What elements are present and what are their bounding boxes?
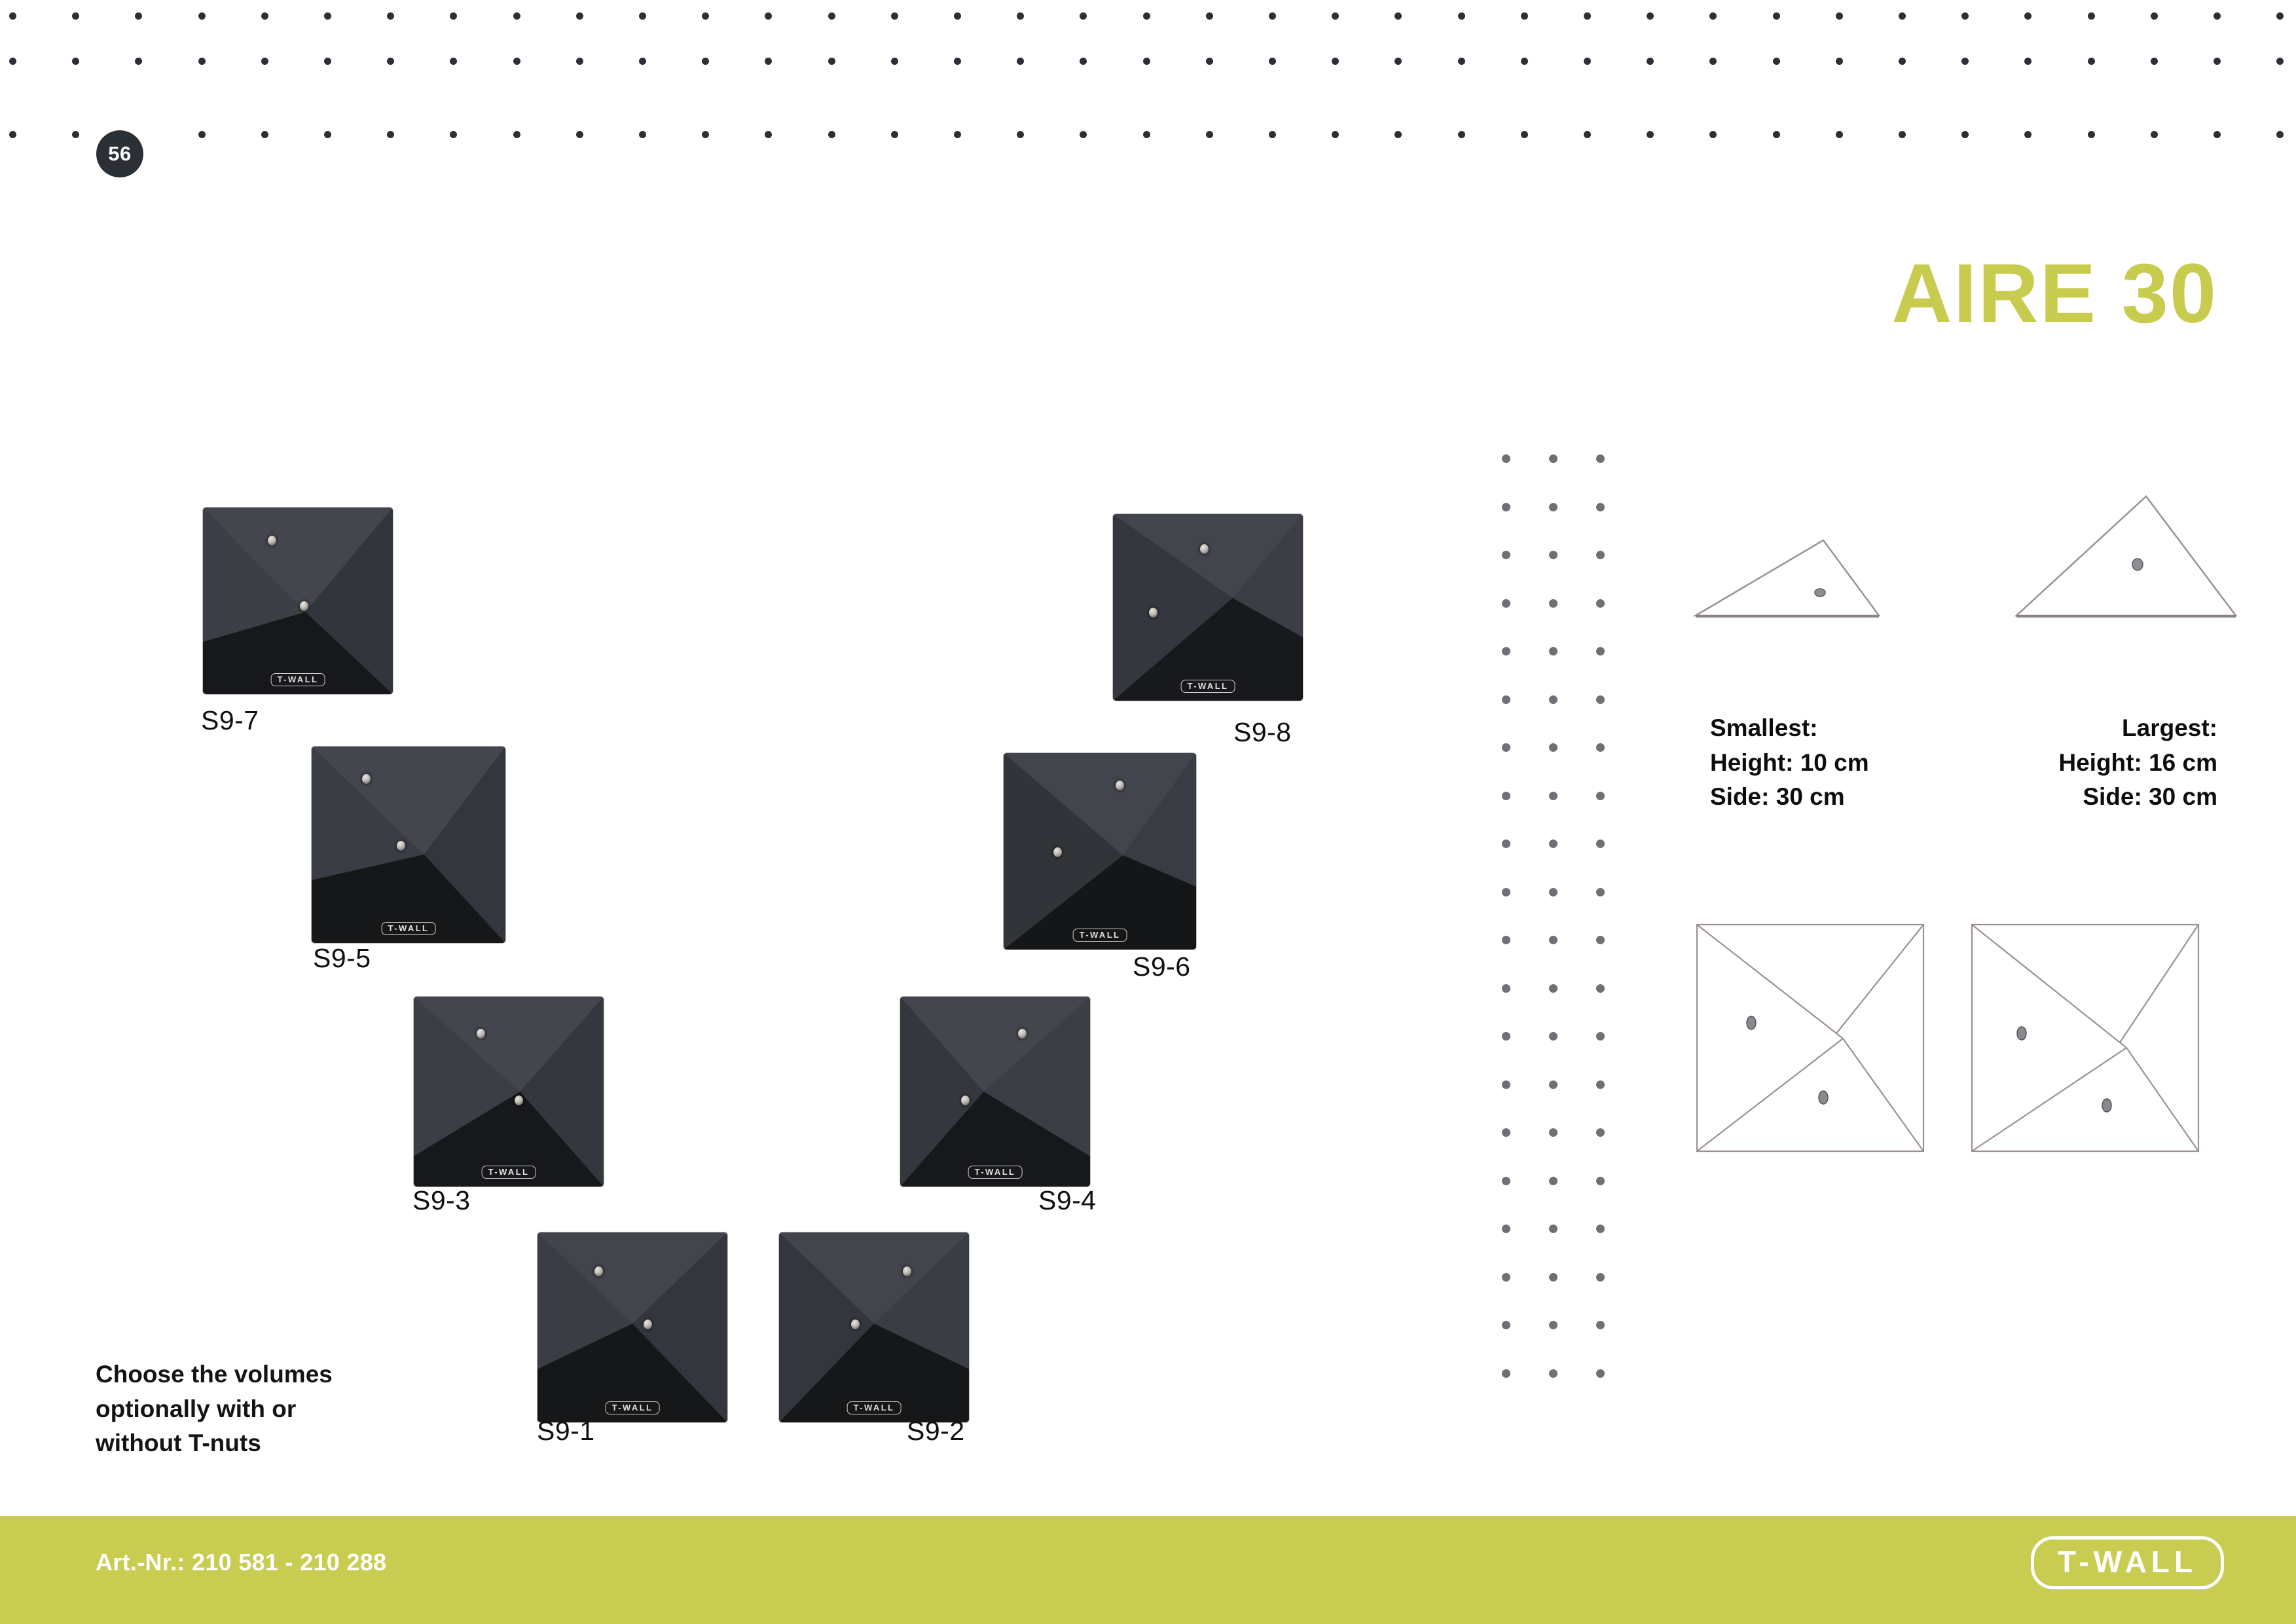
decorative-dot [2276, 12, 2284, 20]
bolt-hole-lower [1149, 608, 1157, 618]
decorative-dot [450, 58, 457, 65]
decorative-dot [1647, 12, 1654, 20]
decorative-dot [1596, 888, 1605, 896]
product-label-s9-2: S9-2 [907, 1416, 965, 1447]
decorative-dot [9, 12, 16, 20]
decorative-dot [261, 58, 268, 65]
decorative-dot [513, 58, 520, 65]
facet-shading [203, 507, 393, 694]
decorative-dot [9, 131, 16, 138]
decorative-dot [954, 58, 961, 65]
decorative-dot [1596, 840, 1605, 848]
decorative-dot [1502, 695, 1510, 704]
decorative-dot [1596, 1273, 1605, 1282]
decorative-dot [1961, 131, 1969, 138]
decorative-dot [1709, 131, 1717, 138]
decorative-dot [1502, 454, 1510, 463]
decorative-dot [1549, 1177, 1558, 1185]
decorative-dot [1549, 695, 1558, 704]
decorative-dot [1502, 1177, 1510, 1185]
product-label-s9-8: S9-8 [1233, 717, 1292, 748]
decorative-dot [891, 58, 898, 65]
bolt-hole-upper [903, 1266, 911, 1276]
decorative-dot [387, 12, 394, 20]
bolt-hole-lower [961, 1096, 970, 1105]
decorative-dot [1332, 58, 1339, 65]
decorative-dot [2151, 58, 2158, 65]
decorative-dot [2276, 58, 2284, 65]
decorative-dot [1596, 1225, 1605, 1233]
decorative-dot [1502, 1128, 1510, 1137]
decorative-dot [2088, 12, 2095, 20]
decorative-dot [1584, 131, 1591, 138]
decorative-dot [2088, 58, 2095, 65]
decorative-dot [1017, 12, 1024, 20]
twall-brand-logo: T-WALL [2031, 1536, 2224, 1589]
decorative-dot [1206, 58, 1213, 65]
decorative-dot [1596, 1369, 1605, 1378]
decorative-dot [1269, 131, 1276, 138]
product-card-s9-4[interactable]: T-WALL [900, 997, 1090, 1187]
decorative-dot [828, 12, 835, 20]
decorative-dot [1206, 12, 1213, 20]
product-card-s9-2[interactable]: T-WALL [779, 1232, 969, 1422]
decorative-dot [1269, 58, 1276, 65]
decorative-dot [1596, 551, 1605, 559]
decorative-dot [2088, 131, 2095, 138]
decorative-dot [2214, 58, 2221, 65]
product-image-s9-6: T-WALL [1004, 753, 1196, 950]
decorative-dot [702, 131, 709, 138]
product-image-s9-5: T-WALL [312, 747, 505, 943]
decorative-dot [1899, 12, 1906, 20]
decorative-dot [1549, 1032, 1558, 1041]
product-image-s9-1: T-WALL [538, 1232, 727, 1422]
center-dot-grid [1486, 439, 1630, 1375]
volume-note-text: Choose the volumes optionally with or wi… [96, 1357, 333, 1461]
decorative-dot [1549, 1225, 1558, 1233]
decorative-dot [1709, 58, 1717, 65]
decorative-dot [1521, 12, 1528, 20]
decorative-dot [828, 131, 835, 138]
decorative-dot [1458, 58, 1465, 65]
decorative-dot [1584, 12, 1591, 20]
decorative-dot [1143, 12, 1150, 20]
twall-logo-badge: T-WALL [606, 1401, 660, 1414]
bolt-hole-upper [362, 774, 371, 784]
decorative-dot [2024, 12, 2032, 20]
decorative-dot [765, 12, 772, 20]
decorative-dot [639, 12, 646, 20]
decorative-dot [891, 12, 898, 20]
decorative-dot [765, 131, 772, 138]
decorative-dot [1596, 792, 1605, 800]
decorative-dot [135, 12, 142, 20]
decorative-dot [324, 58, 331, 65]
decorative-dot [9, 58, 16, 65]
decorative-dot [1836, 131, 1843, 138]
decorative-dot [1502, 1080, 1510, 1089]
decorative-dot [1836, 58, 1843, 65]
decorative-dot [1332, 12, 1339, 20]
decorative-dot [450, 12, 457, 20]
decorative-dot [576, 12, 583, 20]
decorative-dot [1394, 12, 1402, 20]
decorative-dot [1596, 1128, 1605, 1137]
decorative-dot [1596, 1080, 1605, 1089]
decorative-dot [198, 131, 206, 138]
twall-logo-badge: T-WALL [847, 1401, 902, 1414]
decorative-dot [1269, 12, 1276, 20]
decorative-dot [450, 131, 457, 138]
decorative-dot [1521, 131, 1528, 138]
profile-diagram-largest [2003, 485, 2265, 629]
product-image-s9-3: T-WALL [414, 997, 604, 1187]
decorative-dot [1549, 503, 1558, 511]
decorative-dot [1596, 599, 1605, 608]
product-label-s9-4: S9-4 [1038, 1185, 1097, 1216]
decorative-dot [1836, 12, 1843, 20]
decorative-dot [135, 58, 142, 65]
decorative-dot [1596, 454, 1605, 463]
spec-text-smallest: Smallest: Height: 10 cm Side: 30 cm [1710, 711, 1869, 815]
decorative-dot [1502, 599, 1510, 608]
page-number-badge: 56 [96, 130, 143, 177]
decorative-dot [72, 12, 79, 20]
decorative-dot [1647, 131, 1654, 138]
product-label-s9-7: S9-7 [201, 705, 259, 736]
decorative-dot [576, 131, 583, 138]
decorative-dot [1549, 1080, 1558, 1089]
decorative-dot [1596, 984, 1605, 993]
decorative-dot [1596, 1177, 1605, 1185]
decorative-dot [1773, 12, 1780, 20]
decorative-dot [954, 131, 961, 138]
decorative-dot [261, 131, 268, 138]
decorative-dot [576, 58, 583, 65]
decorative-dot [1502, 1273, 1510, 1282]
top-dot-grid [0, 0, 2296, 164]
decorative-dot [72, 131, 79, 138]
decorative-dot [513, 12, 520, 20]
decorative-dot [1549, 599, 1558, 608]
decorative-dot [1596, 1032, 1605, 1041]
decorative-dot [1596, 936, 1605, 944]
decorative-dot [1899, 131, 1906, 138]
decorative-dot [1549, 454, 1558, 463]
facet-shading [538, 1232, 727, 1422]
decorative-dot [1549, 1128, 1558, 1137]
decorative-dot [1647, 58, 1654, 65]
decorative-dot [2151, 131, 2158, 138]
decorative-dot [1596, 1321, 1605, 1329]
twall-logo-badge: T-WALL [968, 1166, 1023, 1179]
bolt-hole-upper [1018, 1029, 1027, 1039]
profile-diagram-smallest [1689, 511, 1951, 629]
decorative-dot [1549, 792, 1558, 800]
decorative-dot [1521, 58, 1528, 65]
product-card-s9-1[interactable]: T-WALL [538, 1232, 727, 1422]
facet-shading [779, 1232, 969, 1422]
product-label-s9-1: S9-1 [537, 1416, 595, 1447]
decorative-dot [1080, 131, 1087, 138]
decorative-dot [1206, 131, 1213, 138]
decorative-dot [702, 58, 709, 65]
product-image-s9-7: T-WALL [203, 507, 393, 694]
facet-shading [312, 747, 505, 943]
twall-logo-badge: T-WALL [382, 922, 436, 935]
decorative-dot [1502, 936, 1510, 944]
product-card-s9-8[interactable]: T-WALL [1113, 514, 1303, 701]
decorative-dot [2024, 131, 2032, 138]
plan-diagram-smallest [1689, 917, 1931, 1159]
decorative-dot [1773, 131, 1780, 138]
decorative-dot [1017, 131, 1024, 138]
decorative-dot [1502, 888, 1510, 896]
product-image-s9-4: T-WALL [900, 997, 1090, 1187]
decorative-dot [1017, 58, 1024, 65]
decorative-dot [198, 58, 206, 65]
article-number-text: Art.-Nr.: 210 581 - 210 288 [96, 1549, 386, 1576]
decorative-dot [1549, 1321, 1558, 1329]
decorative-dot [72, 58, 79, 65]
product-label-s9-6: S9-6 [1133, 951, 1191, 982]
decorative-dot [1080, 12, 1087, 20]
decorative-dot [387, 131, 394, 138]
bolt-hole-upper [1200, 544, 1209, 554]
product-image-s9-2: T-WALL [779, 1232, 969, 1422]
product-image-s9-8: T-WALL [1113, 514, 1303, 701]
bolt-hole-upper [477, 1029, 485, 1039]
facet-shading [1113, 514, 1303, 701]
page-title: AIRE 30 [1891, 252, 2217, 336]
product-card-s9-5[interactable]: T-WALL [312, 747, 505, 943]
decorative-dot [702, 12, 709, 20]
product-label-s9-5: S9-5 [313, 943, 371, 974]
decorative-dot [1332, 131, 1339, 138]
facet-shading [900, 997, 1090, 1187]
decorative-dot [1549, 840, 1558, 848]
product-card-s9-3[interactable]: T-WALL [414, 997, 604, 1187]
bolt-hole-lower [515, 1096, 523, 1105]
decorative-dot [2151, 12, 2158, 20]
decorative-dot [1549, 984, 1558, 993]
decorative-dot [891, 131, 898, 138]
decorative-dot [1502, 840, 1510, 848]
decorative-dot [639, 58, 646, 65]
decorative-dot [261, 12, 268, 20]
facet-shading [414, 997, 604, 1187]
decorative-dot [2024, 58, 2032, 65]
decorative-dot [1502, 551, 1510, 559]
decorative-dot [1143, 58, 1150, 65]
twall-logo-badge: T-WALL [271, 673, 325, 686]
facet-shading [1004, 753, 1196, 950]
decorative-dot [1458, 12, 1465, 20]
decorative-dot [324, 131, 331, 138]
decorative-dot [2214, 12, 2221, 20]
decorative-dot [1549, 551, 1558, 559]
decorative-dot [1502, 1369, 1510, 1378]
decorative-dot [1502, 1032, 1510, 1041]
decorative-dot [1502, 1321, 1510, 1329]
decorative-dot [1502, 984, 1510, 993]
decorative-dot [1773, 58, 1780, 65]
decorative-dot [1394, 58, 1402, 65]
decorative-dot [198, 12, 206, 20]
product-label-s9-3: S9-3 [412, 1185, 471, 1216]
decorative-dot [387, 58, 394, 65]
decorative-dot [1549, 936, 1558, 944]
decorative-dot [1596, 743, 1605, 752]
bottom-banner: Art.-Nr.: 210 581 - 210 288 T-WALL [0, 1516, 2296, 1624]
decorative-dot [1502, 1225, 1510, 1233]
decorative-dot [2276, 131, 2284, 138]
decorative-dot [1549, 1369, 1558, 1378]
decorative-dot [1502, 743, 1510, 752]
decorative-dot [1502, 647, 1510, 655]
decorative-dot [1961, 58, 1969, 65]
decorative-dot [639, 131, 646, 138]
product-card-s9-6[interactable]: T-WALL [1004, 753, 1196, 950]
decorative-dot [1080, 58, 1087, 65]
decorative-dot [1549, 888, 1558, 896]
decorative-dot [1596, 647, 1605, 655]
decorative-dot [1596, 503, 1605, 511]
decorative-dot [828, 58, 835, 65]
decorative-dot [1458, 131, 1465, 138]
twall-logo-badge: T-WALL [482, 1166, 536, 1179]
decorative-dot [954, 12, 961, 20]
decorative-dot [1502, 503, 1510, 511]
bolt-hole-lower [300, 601, 308, 611]
decorative-dot [765, 58, 772, 65]
spec-text-largest: Largest: Height: 16 cm Side: 30 cm [2058, 711, 2217, 815]
decorative-dot [1549, 1273, 1558, 1282]
page-number-label: 56 [108, 142, 131, 166]
product-card-s9-7[interactable]: T-WALL [203, 507, 393, 694]
decorative-dot [1549, 647, 1558, 655]
decorative-dot [1502, 792, 1510, 800]
decorative-dot [324, 12, 331, 20]
decorative-dot [513, 131, 520, 138]
decorative-dot [1584, 58, 1591, 65]
decorative-dot [1961, 12, 1969, 20]
decorative-dot [1394, 131, 1402, 138]
bolt-hole-upper [268, 536, 276, 545]
decorative-dot [1549, 743, 1558, 752]
decorative-dot [2214, 131, 2221, 138]
decorative-dot [1596, 695, 1605, 704]
decorative-dot [1899, 58, 1906, 65]
bolt-hole-upper [1116, 781, 1124, 790]
decorative-dot [1143, 131, 1150, 138]
twall-logo-badge: T-WALL [1073, 929, 1127, 942]
twall-logo-badge: T-WALL [1181, 680, 1235, 693]
decorative-dot [1709, 12, 1717, 20]
plan-diagram-largest [1964, 917, 2206, 1159]
